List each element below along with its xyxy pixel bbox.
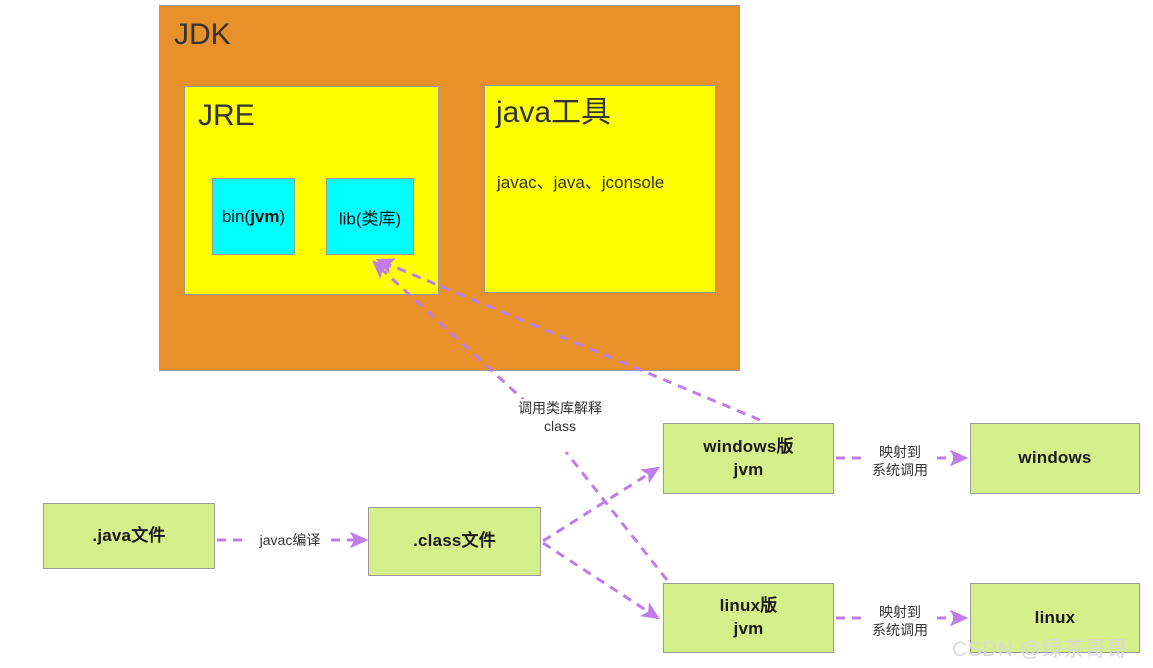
bin-label-suffix: ) (279, 207, 285, 226)
bin-label-prefix: bin( (222, 207, 250, 226)
node-linux-jvm: linux版 jvm (663, 583, 834, 653)
java-tools-container: java工具 javac、java、jconsole (484, 85, 716, 293)
node-linux-jvm-label: linux版 jvm (720, 595, 778, 641)
node-windows-jvm-line2: jvm (734, 460, 764, 479)
edge-label-map-syscall-windows-line2: 系统调用 (865, 461, 935, 479)
edge-label-map-syscall-windows-line1: 映射到 (865, 443, 935, 461)
node-windows-jvm-label: windows版 jvm (703, 436, 793, 482)
edge-class-to-linux-jvm (543, 543, 658, 618)
node-linux-jvm-line1: linux版 (720, 596, 778, 615)
bin-jvm-label: bin(jvm) (213, 207, 294, 227)
lib-label: lib(类库) (327, 204, 413, 229)
jre-title: JRE (198, 101, 255, 131)
csdn-watermark: CSDN @绿茶哥哥 (952, 633, 1128, 663)
java-tools-items: javac、java、jconsole (497, 168, 664, 193)
edge-label-map-syscall-linux: 映射到 系统调用 (865, 603, 935, 639)
node-class-file-label: .class文件 (413, 530, 496, 553)
lib-label-prefix: lib( (339, 209, 362, 228)
lib-box: lib(类库) (326, 178, 414, 255)
node-java-file: .java文件 (43, 503, 215, 569)
java-tools-title: java工具 (496, 98, 611, 128)
edge-label-map-syscall-linux-line1: 映射到 (865, 603, 935, 621)
node-java-file-label: .java文件 (92, 525, 165, 548)
bin-jvm-box: bin(jvm) (212, 178, 295, 255)
bin-label-bold: jvm (250, 207, 279, 226)
node-class-file: .class文件 (368, 507, 541, 576)
edge-label-call-library-line2: class (498, 417, 622, 435)
edge-label-map-syscall-windows: 映射到 系统调用 (865, 443, 935, 479)
jdk-title: JDK (174, 20, 231, 50)
node-windows-jvm-line1: windows版 (703, 437, 793, 456)
node-windows-os: windows (970, 423, 1140, 494)
node-linux-jvm-line2: jvm (734, 619, 764, 638)
edge-label-javac-compile: javac编译 (252, 531, 328, 549)
edge-class-to-windows-jvm (543, 468, 658, 541)
diagram-canvas: JDK JRE bin(jvm) lib(类库) java工具 javac、ja… (0, 0, 1153, 668)
node-windows-os-label: windows (1018, 447, 1091, 470)
edge-label-call-library-line1: 调用类库解释 (498, 399, 622, 417)
edge-label-map-syscall-linux-line2: 系统调用 (865, 621, 935, 639)
node-windows-jvm: windows版 jvm (663, 423, 834, 494)
node-linux-os-label: linux (1035, 607, 1076, 630)
edge-label-call-library: 调用类库解释 class (498, 399, 622, 435)
lib-label-suffix: 类库) (362, 209, 402, 228)
